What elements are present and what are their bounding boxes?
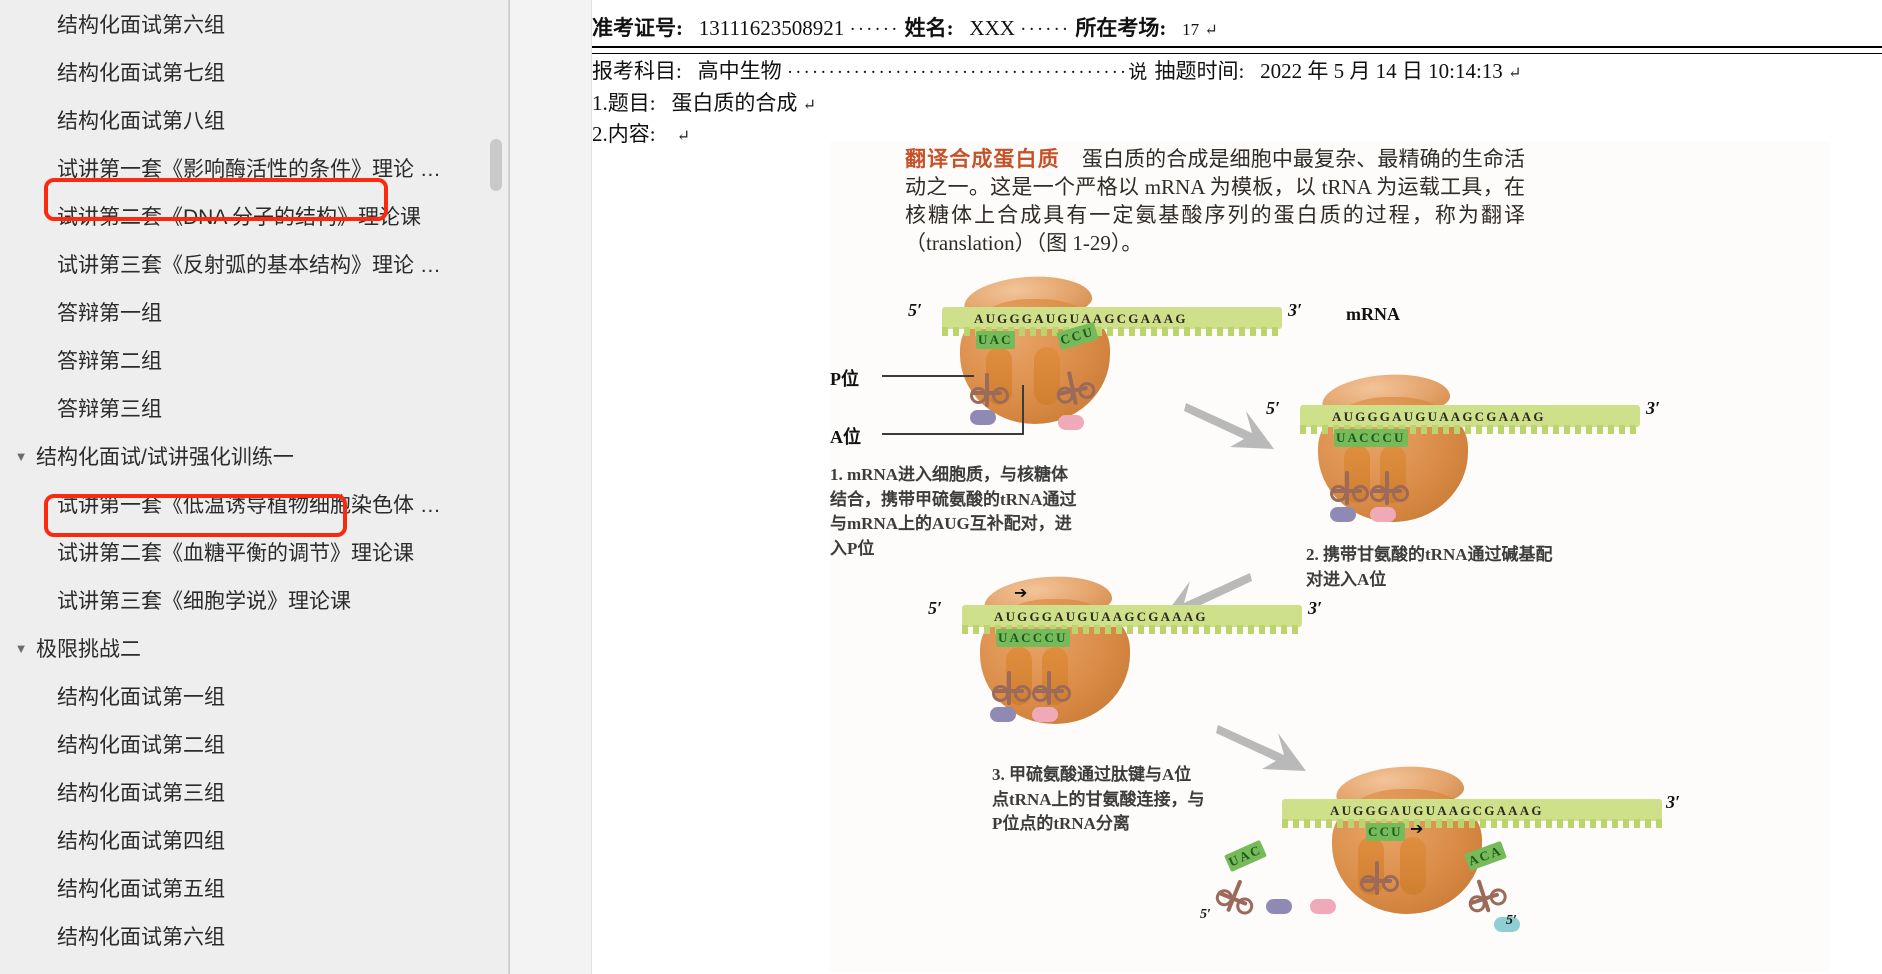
outline-item-label: 结构化面试第三组 — [0, 777, 225, 807]
subject-dots: ········································… — [787, 62, 1149, 83]
outline-group-9[interactable]: ▼结构化面试/试讲强化训练一 — [0, 432, 510, 480]
room-label: 所在考场: — [1075, 16, 1166, 40]
subject-value: 高中生物 — [698, 59, 782, 83]
translation-diagram: AUGGGAUGUAAGCGAAAG UAC CCU 5′ 3′ mRNA — [830, 267, 1830, 972]
outline-item-19[interactable]: 结构化面试第六组 — [0, 912, 510, 960]
title-row: 1.题目: 蛋白质的合成 ↵ — [592, 87, 816, 117]
amino-acid-methionine-4 — [1266, 899, 1292, 914]
outline-item-label: 试讲第二套《DNA 分子的结构》理论课 — [0, 201, 421, 231]
outline-item-label: 试讲第三套《反射弧的基本结构》理论 … — [0, 249, 441, 279]
three-prime-label-3: 3′ — [1308, 598, 1322, 619]
trna-p-site-1 — [970, 365, 1004, 411]
outline-item-17[interactable]: 结构化面试第四组 — [0, 816, 510, 864]
name-label: 姓名: — [905, 16, 954, 40]
title-label: 1.题目: — [592, 91, 656, 115]
outline-item-3[interactable]: 试讲第一套《影响酶活性的条件》理论 … — [0, 144, 510, 192]
mrna-sequence-2: AUGGGAUGUAAGCGAAAG — [1332, 409, 1546, 425]
subject-row: 报考科目: 高中生物 ·····························… — [592, 55, 1882, 85]
outline-item-11[interactable]: 试讲第二套《血糖平衡的调节》理论课 — [0, 528, 510, 576]
pilcrow-icon: ↵ — [803, 97, 816, 114]
outline-item-5[interactable]: 试讲第三套《反射弧的基本结构》理论 … — [0, 240, 510, 288]
outline-item-label: 试讲第三套《细胞学说》理论课 — [0, 585, 351, 615]
exam-no-label: 准考证号: — [592, 16, 683, 40]
room-value: 17 — [1182, 20, 1199, 39]
p-site-label-1: P位 — [830, 365, 859, 391]
outline-tree: 结构化面试第六组结构化面试第七组结构化面试第八组试讲第一套《影响酶活性的条件》理… — [0, 0, 510, 960]
flow-arrow-3 — [1214, 719, 1310, 775]
outline-item-label: 结构化面试第八组 — [0, 105, 225, 135]
trna-a-site-3 — [1032, 663, 1066, 709]
five-prime-label-4b: 5′ — [1506, 913, 1517, 929]
outline-item-label: 结构化面试第二组 — [0, 729, 225, 759]
outline-item-label: 结构化面试第七组 — [0, 57, 225, 87]
outline-item-label: 极限挑战二 — [36, 633, 141, 663]
sidebar-scrollbar-thumb[interactable] — [490, 139, 502, 191]
outline-item-14[interactable]: 结构化面试第一组 — [0, 672, 510, 720]
outline-item-7[interactable]: 答辩第二组 — [0, 336, 510, 384]
chevron-down-icon[interactable]: ▼ — [10, 445, 32, 467]
header-dots-2: ······ — [1020, 19, 1070, 40]
subject-label: 报考科目: — [592, 59, 682, 83]
outline-item-label: 结构化面试第五组 — [0, 873, 225, 903]
amino-acid-glycine-4 — [1310, 899, 1336, 914]
draw-time-label: 抽题时间: — [1155, 59, 1245, 83]
three-prime-label-1: 3′ — [1288, 300, 1302, 321]
header-double-rule — [592, 46, 1882, 54]
outline-item-label: 试讲第一套《低温诱导植物细胞染色体 … — [0, 489, 441, 519]
translocation-arrow-icon: ➔ — [1410, 819, 1423, 839]
three-prime-label-2: 3′ — [1646, 398, 1660, 419]
outline-item-10[interactable]: 试讲第一套《低温诱导植物细胞染色体 … — [0, 480, 510, 528]
outline-item-label: 结构化面试第六组 — [0, 9, 225, 39]
title-value: 蛋白质的合成 — [671, 91, 797, 115]
three-prime-label-4: 3′ — [1666, 792, 1680, 813]
outline-item-15[interactable]: 结构化面试第二组 — [0, 720, 510, 768]
document-pane[interactable]: 准考证号: 13111623508921 ······ 姓名: XXX ····… — [510, 0, 1882, 974]
name-value: XXX — [969, 16, 1015, 40]
anticodon-uacccu-2: UACCCU — [1334, 429, 1408, 447]
outline-item-label: 结构化面试第一组 — [0, 681, 225, 711]
amino-acid-glycine-1 — [1058, 415, 1084, 430]
figure-paragraph: 翻译合成蛋白质蛋白质的合成是细胞中最复杂、最精确的生命活动之一。这是一个严格以 … — [905, 146, 1525, 258]
amino-acid-glycine-2 — [1370, 507, 1396, 522]
header-dots-1: ······ — [849, 19, 899, 40]
p-site-leader-line — [882, 375, 974, 377]
textbook-figure: 翻译合成蛋白质蛋白质的合成是细胞中最复杂、最精确的生命活动之一。这是一个严格以 … — [830, 142, 1830, 972]
five-prime-label-3: 5′ — [928, 598, 942, 619]
amino-acid-methionine-1 — [970, 410, 996, 425]
trna-p-site-4 — [1360, 853, 1394, 899]
mrna-label: mRNA — [1346, 304, 1400, 325]
mrna-sequence-4: AUGGGAUGUAAGCGAAAG — [1330, 803, 1544, 819]
trna-p-site-2 — [1330, 463, 1364, 509]
document-page: 准考证号: 13111623508921 ······ 姓名: XXX ····… — [592, 0, 1882, 974]
a-site-leader-line — [882, 433, 1024, 435]
outline-item-8[interactable]: 答辩第三组 — [0, 384, 510, 432]
translocation-arrow-icon: ➔ — [1014, 583, 1027, 603]
five-prime-label-4a: 5′ — [1200, 907, 1211, 923]
anticodon-uacccu-3: UACCCU — [996, 629, 1070, 647]
mrna-sequence-3: AUGGGAUGUAAGCGAAAG — [994, 609, 1208, 625]
app-root: 结构化面试第六组结构化面试第七组结构化面试第八组试讲第一套《影响酶活性的条件》理… — [0, 0, 1882, 974]
pilcrow-icon: ↵ — [1204, 22, 1217, 39]
outline-item-label: 试讲第一套《影响酶活性的条件》理论 … — [0, 153, 441, 183]
exam-no-value: 13111623508921 — [699, 16, 844, 40]
figure-heading: 翻译合成蛋白质 — [905, 147, 1060, 171]
course-outline-sidebar[interactable]: 结构化面试第六组结构化面试第七组结构化面试第八组试讲第一套《影响酶活性的条件》理… — [0, 0, 510, 974]
step-2-caption: 2. 携带甘氨酸的tRNA通过碱基配 对进入A位 — [1306, 543, 1646, 592]
trna-p-site-3 — [992, 663, 1026, 709]
outline-item-label: 结构化面试/试讲强化训练一 — [36, 441, 294, 471]
draw-time-value: 2022 年 5 月 14 日 10:14:13 — [1260, 59, 1503, 83]
step-1-caption: 1. mRNA进入细胞质，与核糖体 结合，携带甲硫氨酸的tRNA通过 与mRNA… — [830, 463, 1160, 562]
sidebar-scrollbar-track[interactable] — [490, 0, 502, 974]
pilcrow-icon: ↵ — [677, 128, 690, 145]
amino-acid-methionine-3 — [990, 707, 1016, 722]
outline-item-12[interactable]: 试讲第三套《细胞学说》理论课 — [0, 576, 510, 624]
amino-acid-glycine-3 — [1032, 707, 1058, 722]
anticodon-ccu-4: CCU — [1366, 823, 1405, 841]
content-row: 2.内容: ↵ — [592, 118, 690, 148]
five-prime-label-1: 5′ — [908, 300, 922, 321]
amino-acid-methionine-2 — [1330, 507, 1356, 522]
outline-item-label: 结构化面试第六组 — [0, 921, 225, 951]
outline-item-16[interactable]: 结构化面试第三组 — [0, 768, 510, 816]
outline-item-18[interactable]: 结构化面试第五组 — [0, 864, 510, 912]
content-label: 2.内容: — [592, 122, 656, 146]
a-site-leader-vert — [1022, 385, 1024, 435]
five-prime-label-2: 5′ — [1266, 398, 1280, 419]
pilcrow-icon: ↵ — [1508, 65, 1521, 82]
outline-item-label: 试讲第二套《血糖平衡的调节》理论课 — [0, 537, 414, 567]
outline-item-label: 答辩第二组 — [0, 345, 162, 375]
outline-item-0[interactable]: 结构化面试第六组 — [0, 0, 510, 48]
trna-a-site-2 — [1370, 463, 1404, 509]
exam-header-row: 准考证号: 13111623508921 ······ 姓名: XXX ····… — [592, 12, 1882, 42]
outline-item-label: 答辩第一组 — [0, 297, 162, 327]
chevron-down-icon[interactable]: ▼ — [10, 637, 32, 659]
outline-item-label: 结构化面试第四组 — [0, 825, 225, 855]
outline-group-13[interactable]: ▼极限挑战二 — [0, 624, 510, 672]
outline-item-4[interactable]: 试讲第二套《DNA 分子的结构》理论课 — [0, 192, 510, 240]
trna-released-4 — [1211, 866, 1260, 921]
outline-item-6[interactable]: 答辩第一组 — [0, 288, 510, 336]
outline-item-2[interactable]: 结构化面试第八组 — [0, 96, 510, 144]
flow-arrow-1 — [1182, 397, 1278, 453]
outline-item-label: 答辩第三组 — [0, 393, 162, 423]
a-site-pocket — [1400, 837, 1426, 895]
outline-item-1[interactable]: 结构化面试第七组 — [0, 48, 510, 96]
anticodon-uac-1: UAC — [976, 331, 1015, 349]
a-site-label-1: A位 — [830, 423, 861, 449]
